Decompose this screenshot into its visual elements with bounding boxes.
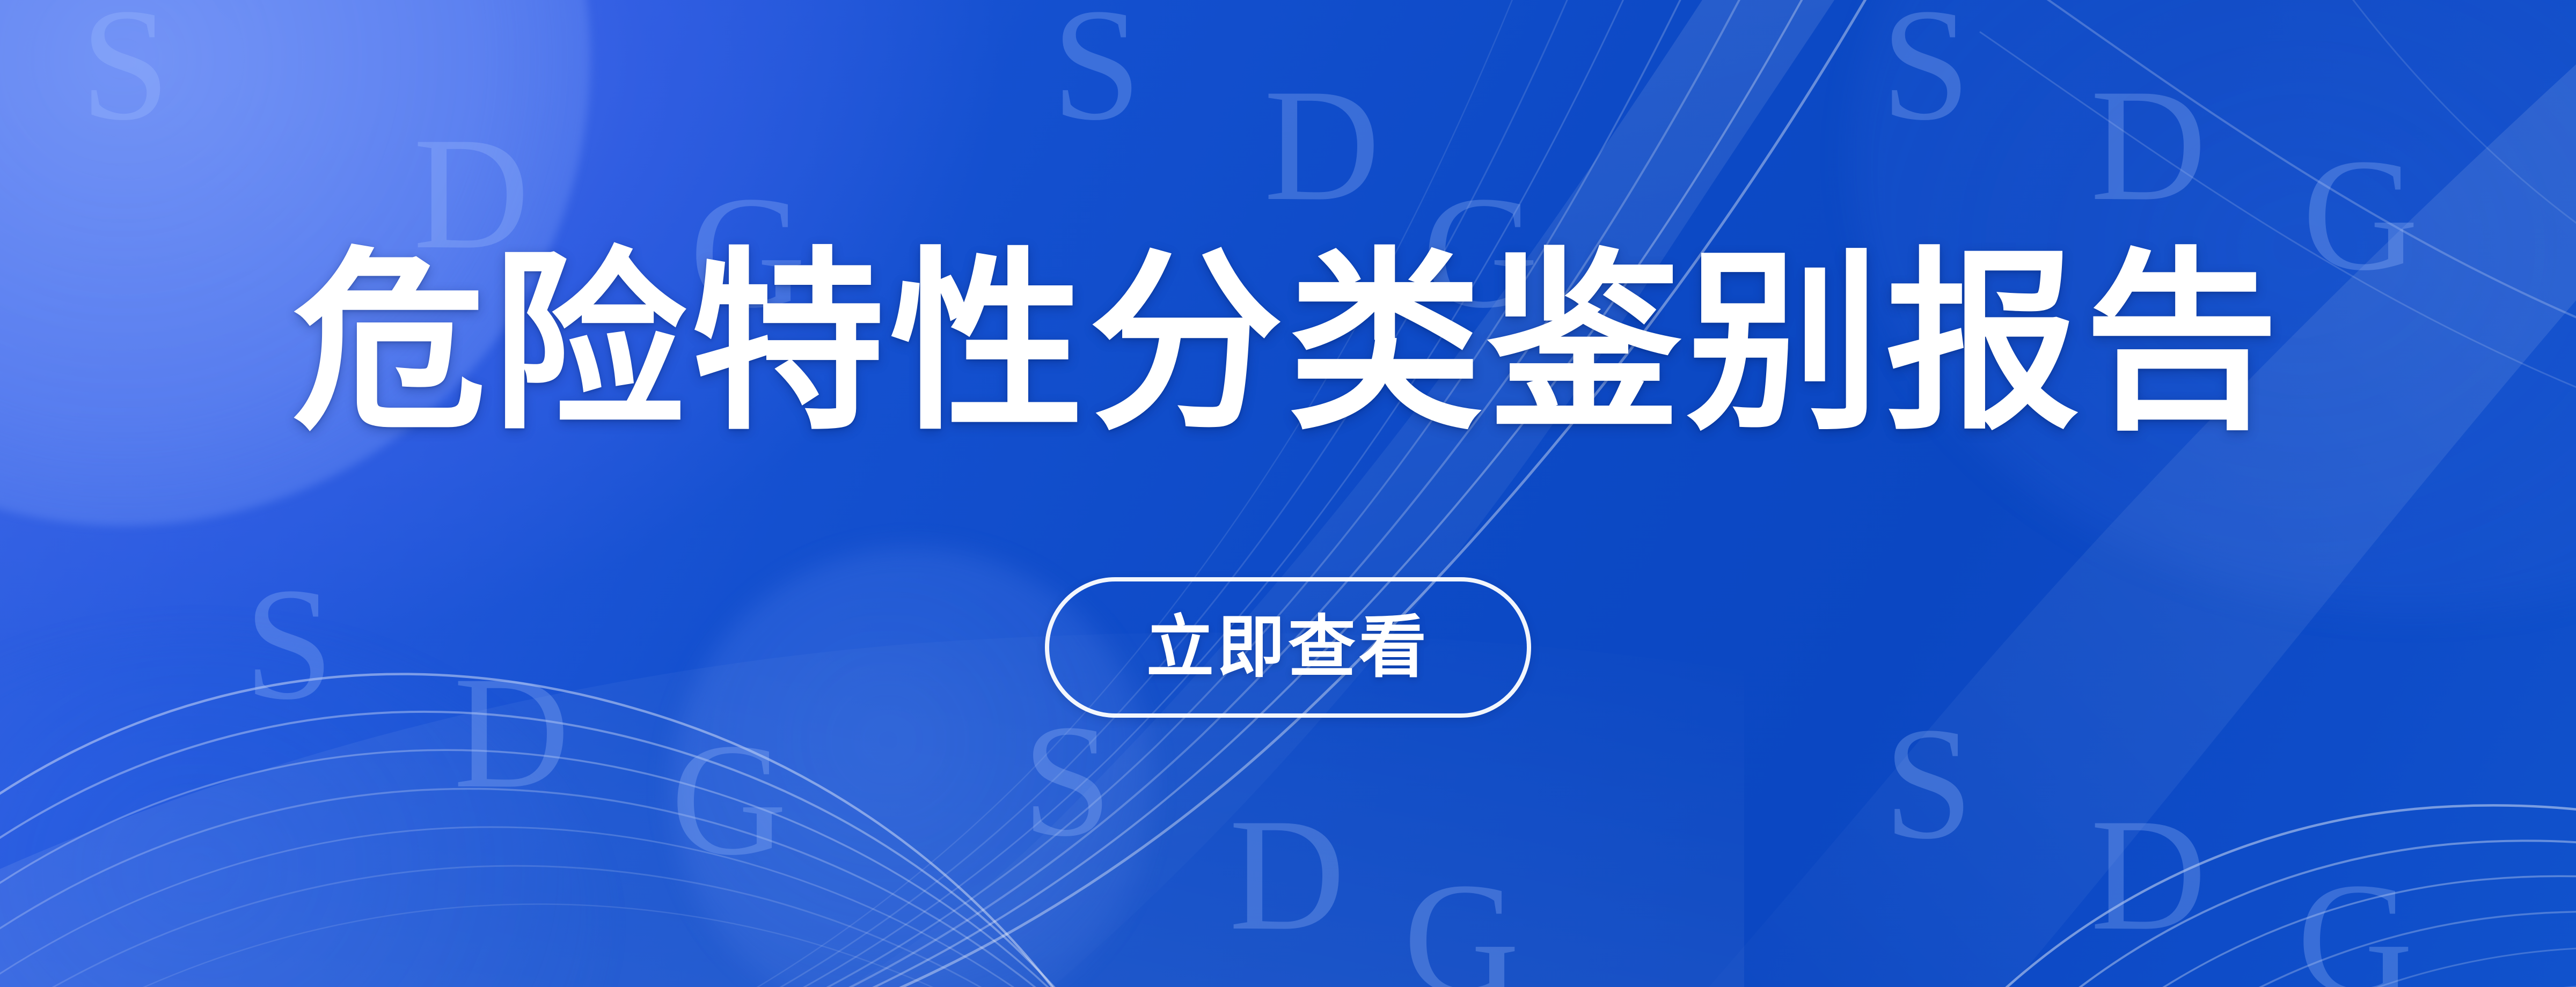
watermark-letter-d: D (1229, 794, 1345, 955)
arc-rings-bottom-left (0, 0, 2576, 987)
arc-rings-bottom-right (0, 0, 2576, 987)
watermark-letter-d: D (2090, 794, 2207, 955)
watermark-letter-s: S (244, 563, 334, 724)
watermark-letter-s: S (1052, 0, 1141, 145)
watermark-letter-g: G (671, 719, 787, 880)
hero-banner: SDGSDGSDGSDGSDGSDG 危险特性分类鉴别报告 立即查看 (0, 0, 2576, 987)
watermark-letter-g: G (2297, 858, 2413, 987)
watermark-letter-s: S (1881, 0, 1971, 145)
view-now-button-label: 立即查看 (1146, 614, 1430, 681)
watermark-letters: SDGSDGSDGSDGSDGSDG (0, 0, 2576, 987)
page-title: 危险特性分类鉴别报告 (0, 231, 2576, 456)
watermark-letter-s: S (1022, 700, 1112, 861)
flow-lines-diagonal (0, 0, 2576, 987)
light-sweep-decoration (0, 0, 2576, 987)
watermark-letter-d: D (2090, 64, 2207, 225)
glow-circle-bottom-left (0, 633, 601, 987)
watermark-letter-s: S (80, 0, 170, 145)
watermark-letter-d: D (453, 652, 570, 813)
watermark-letter-s: S (1884, 703, 1973, 864)
watermark-letter-g: G (1403, 858, 1520, 987)
arc-lines-top-right (0, 0, 2576, 987)
watermark-letter-d: D (1264, 64, 1380, 225)
view-now-button[interactable]: 立即查看 (1045, 577, 1531, 718)
